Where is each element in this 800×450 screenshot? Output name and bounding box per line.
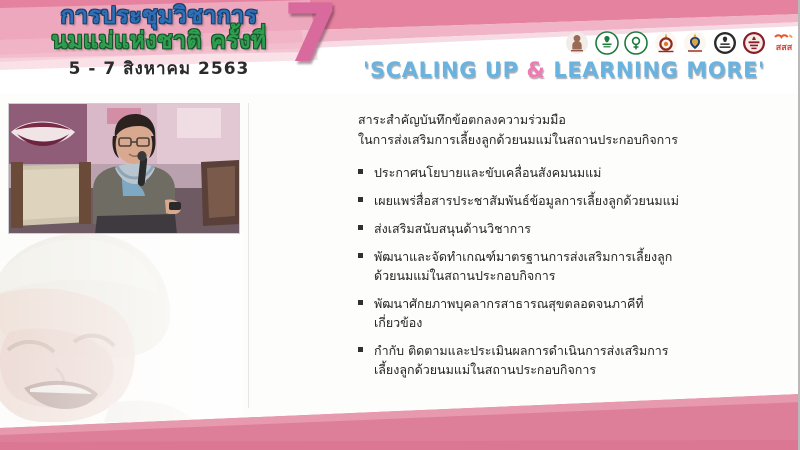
content-divider (248, 103, 249, 408)
list-item: พัฒนาศักยภาพบุคลากรสาธารณสุขตลอดจนภาคีที… (358, 294, 778, 332)
lead-line-1: สาระสำคัญบันทึกข้อตกลงความร่วมมือ (358, 110, 778, 130)
tagline-part2: LEARNING MORE' (545, 58, 765, 82)
bullet-square-icon (358, 225, 363, 230)
bullet-text-line1: พัฒนาและจัดทำเกณฑ์มาตรฐานการส่งเสริมการเ… (374, 249, 672, 264)
sponsor-logo-row: สสส (565, 26, 797, 60)
bullet-square-icon (358, 253, 363, 258)
list-item: ส่งเสริมสนับสนุนด้านวิชาการ (358, 219, 778, 238)
logo-institute-black (713, 31, 738, 56)
bullet-text-line1: พัฒนาศักยภาพบุคลากรสาธารณสุขตลอดจนภาคีที… (374, 296, 644, 311)
bullet-square-icon (358, 347, 363, 352)
conference-title-block: การประชุมวิชาการ นมแม่แห่งชาติ ครั้งที่ … (14, 2, 304, 81)
conference-tagline: 'SCALING UP & LEARNING MORE' (363, 58, 765, 82)
list-item: ประกาศนโยบายและขับเคลื่อนสังคมนมแม่ (358, 163, 778, 182)
bullet-square-icon (358, 300, 363, 305)
bullet-text-line1: กำกับ ติดตามและประเมินผลการดำเนินการส่งเ… (374, 343, 669, 358)
list-item: เผยแพร่สื่อสารประชาสัมพันธ์ข้อมูลการเลี้… (358, 191, 778, 210)
bullet-text-line2: เกี่ยวข้อง (374, 313, 778, 332)
logo-royal-garuda-blue (683, 31, 708, 56)
conference-title-line2: นมแม่แห่งชาติ ครั้งที่ (14, 27, 304, 55)
tagline-part1: 'SCALING UP (363, 58, 527, 82)
bullet-square-icon (358, 197, 363, 202)
svg-text:สสส: สสส (776, 43, 793, 53)
slide-header-banner: การประชุมวิชาการ นมแม่แห่งชาติ ครั้งที่ … (0, 0, 800, 93)
logo-ministry-public-health (595, 31, 620, 56)
speaker-video-frame (9, 104, 240, 234)
slide-content: สาระสำคัญบันทึกข้อตกลงความร่วมมือ ในการส… (358, 110, 778, 388)
bullet-text-line1: ประกาศนโยบายและขับเคลื่อนสังคมนมแม่ (374, 165, 601, 180)
list-item: พัฒนาและจัดทำเกณฑ์มาตรฐานการส่งเสริมการเ… (358, 247, 778, 285)
edition-number-7: 7 (283, 0, 339, 74)
presentation-slide: การประชุมวิชาการ นมแม่แห่งชาติ ครั้งที่ … (0, 0, 800, 450)
bullet-list: ประกาศนโยบายและขับเคลื่อนสังคมนมแม่ เผยแ… (358, 163, 778, 379)
tagline-ampersand: & (527, 58, 546, 82)
logo-royal-emblem (565, 31, 590, 56)
conference-date: 5 - 7 สิงหาคม 2563 (14, 57, 304, 81)
logo-thai-crown-red (654, 31, 679, 56)
bullet-text-line1: เผยแพร่สื่อสารประชาสัมพันธ์ข้อมูลการเลี้… (374, 193, 679, 208)
logo-thaihealth-sss: สสส (772, 31, 797, 56)
bullet-text-line1: ส่งเสริมสนับสนุนด้านวิชาการ (374, 221, 531, 236)
lead-line-2: ในการส่งเสริมการเลี้ยงลูกด้วยนมแม่ในสถาน… (358, 130, 778, 150)
conference-title-line1: การประชุมวิชาการ (14, 2, 304, 30)
logo-health-department (624, 31, 649, 56)
bottom-pink-band (0, 372, 800, 450)
logo-university-maroon (742, 31, 767, 56)
bullet-text-line2: ด้วยนมแม่ในสถานประกอบกิจการ (374, 266, 778, 285)
bullet-square-icon (358, 169, 363, 174)
speaker-video-inset[interactable] (8, 103, 240, 234)
